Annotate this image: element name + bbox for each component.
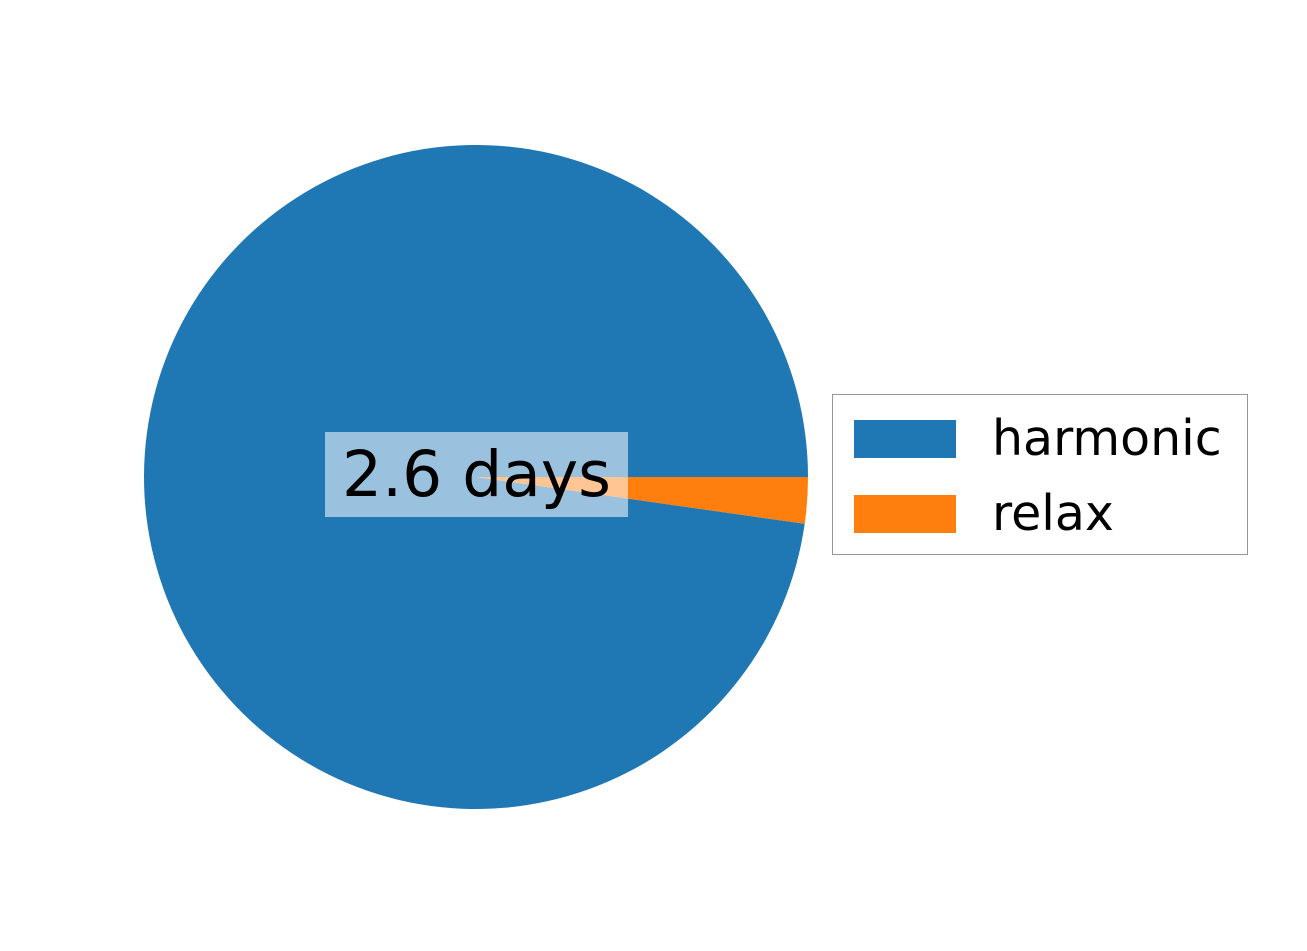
legend-swatch-relax bbox=[854, 495, 956, 533]
chart-legend: harmonic relax bbox=[832, 394, 1248, 555]
pie-slice-label-text: 2.6 days bbox=[342, 443, 611, 506]
legend-item-harmonic[interactable]: harmonic bbox=[854, 414, 1222, 463]
legend-swatch-harmonic bbox=[854, 420, 956, 458]
pie-slice-label-harmonic: 2.6 days bbox=[325, 432, 628, 517]
legend-label-harmonic: harmonic bbox=[992, 414, 1222, 463]
pie-chart-figure: 2.6 days harmonic relax bbox=[0, 0, 1307, 951]
legend-label-relax: relax bbox=[992, 489, 1114, 538]
legend-item-relax[interactable]: relax bbox=[854, 489, 1114, 538]
